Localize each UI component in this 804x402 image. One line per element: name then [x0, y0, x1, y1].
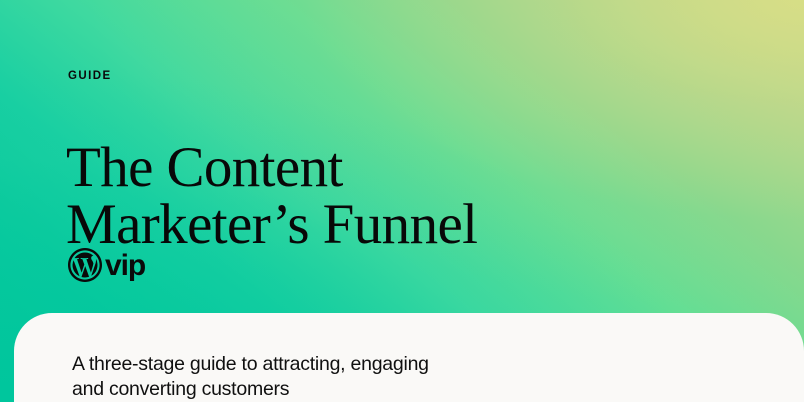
- page-title-line-1: The Content: [66, 139, 666, 196]
- wordpress-w-icon: [68, 248, 102, 282]
- page-title-line-2: Marketer’s Funnel: [66, 196, 666, 253]
- subhead-card: A three-stage guide to attracting, engag…: [14, 313, 804, 402]
- wordpress-vip-logo: vip: [68, 246, 145, 284]
- vip-wordmark: vip: [105, 251, 145, 281]
- eyebrow-label: GUIDE: [68, 71, 112, 83]
- page-subtitle: A three-stage guide to attracting, engag…: [72, 352, 542, 401]
- page-subtitle-line-2: and converting customers: [72, 377, 542, 402]
- cover-page: GUIDE The Content Marketer’s Funnel vip …: [0, 0, 804, 402]
- page-subtitle-line-1: A three-stage guide to attracting, engag…: [72, 352, 542, 377]
- page-title: The Content Marketer’s Funnel: [66, 139, 666, 253]
